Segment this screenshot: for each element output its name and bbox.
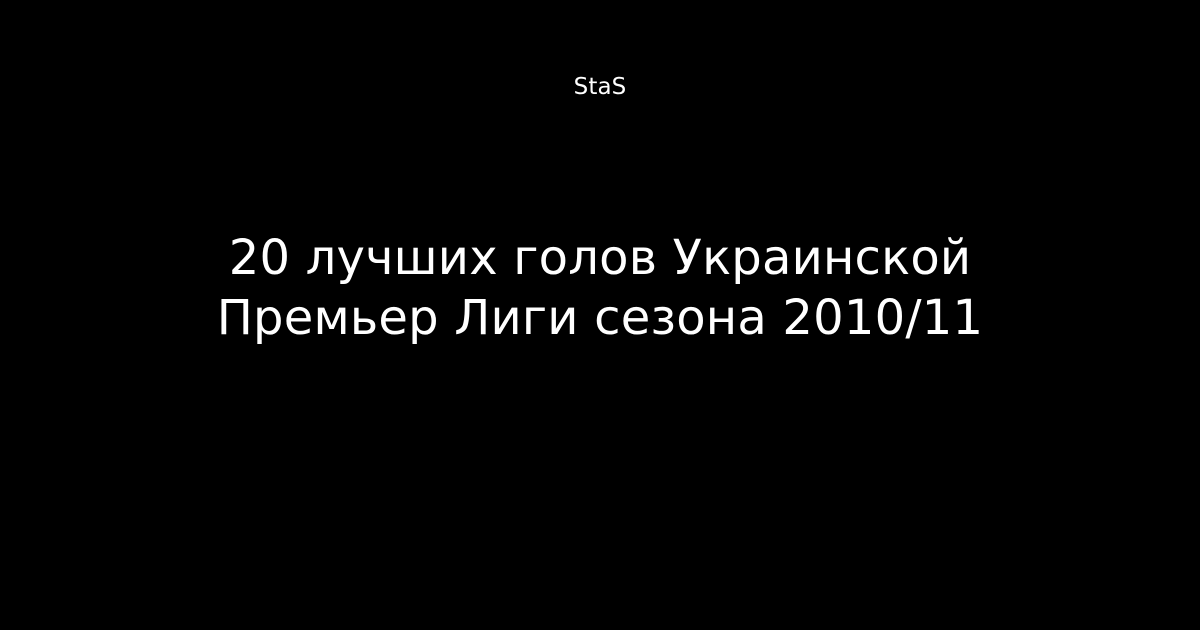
byline-row: StaS: [0, 72, 1200, 104]
page-title: 20 лучших голов Украинской Премьер Лиги …: [195, 228, 1005, 348]
title-block: 20 лучших голов Украинской Премьер Лиги …: [195, 228, 1005, 348]
title-card: StaS 20 лучших голов Украинской Премьер …: [0, 0, 1200, 630]
author-byline: StaS: [574, 72, 627, 102]
